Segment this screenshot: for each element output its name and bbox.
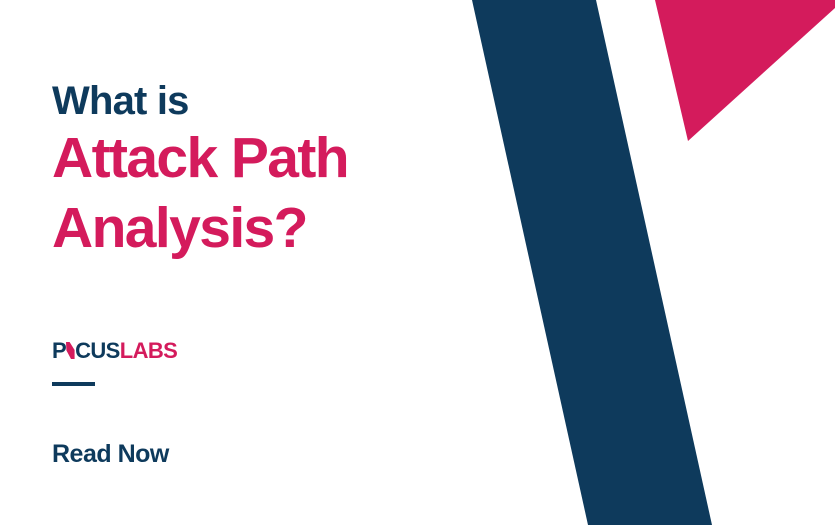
logo-underline-rule [52, 382, 95, 386]
logo-text-p: P [52, 340, 66, 362]
crimson-triangle-shape [655, 0, 835, 141]
headline-eyebrow: What is [52, 78, 452, 124]
read-now-link[interactable]: Read Now [52, 442, 169, 467]
page-title: What is Attack Path Analysis? [52, 78, 452, 263]
logo-text-labs: LABS [120, 340, 178, 362]
navy-slanted-bar-shape [472, 0, 712, 525]
logo-wordmark: P CUS LABS [52, 340, 177, 362]
picus-check-i-icon [66, 342, 75, 359]
content-column: What is Attack Path Analysis? P CUS LABS… [52, 0, 452, 525]
picus-labs-logo: P CUS LABS [52, 340, 177, 386]
logo-text-cus: CUS [75, 340, 120, 362]
headline-line-1: Attack Path [52, 124, 452, 194]
headline-line-2: Analysis? [52, 194, 452, 264]
promo-card: What is Attack Path Analysis? P CUS LABS… [0, 0, 835, 525]
